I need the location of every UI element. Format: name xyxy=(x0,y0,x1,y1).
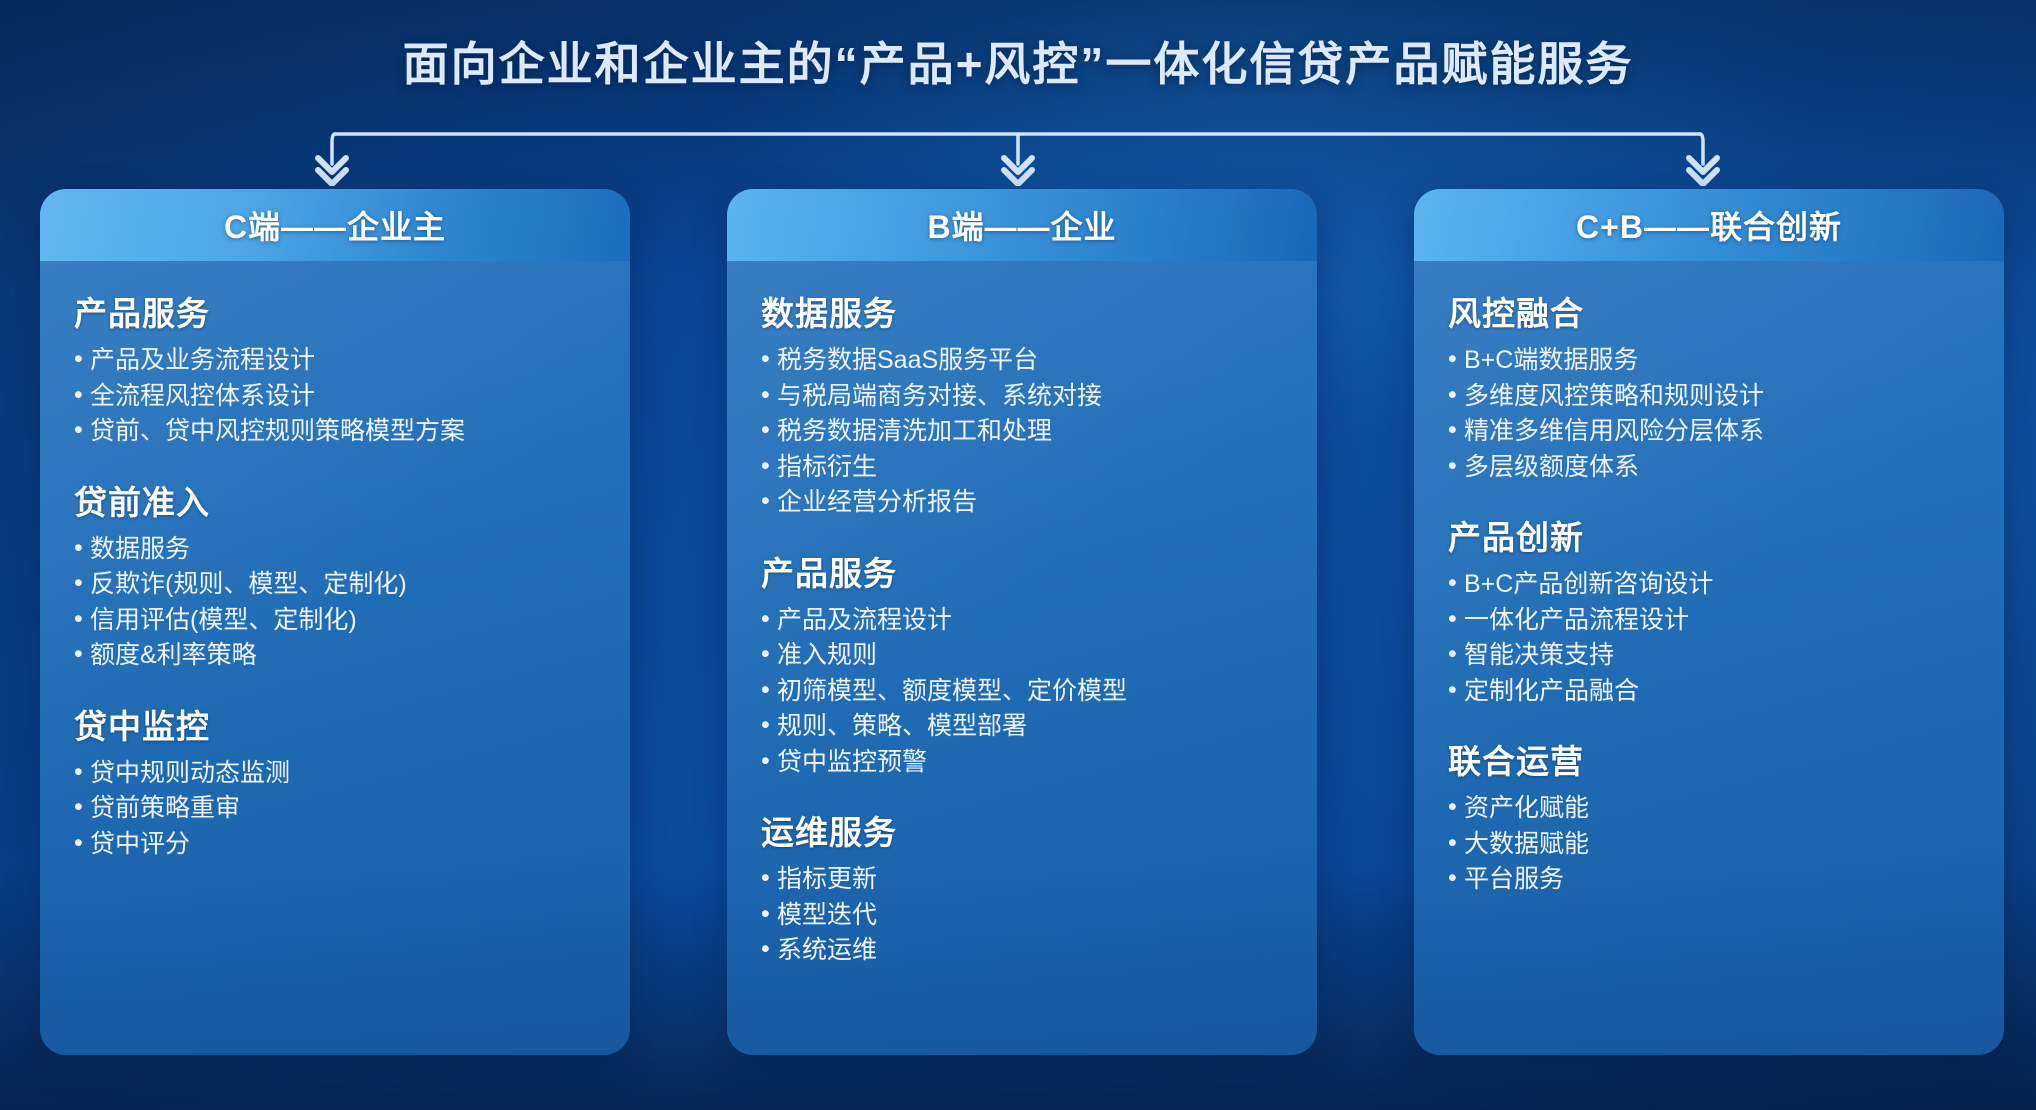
list-item: 数据服务 xyxy=(74,532,596,568)
card-c-end[interactable]: C端——企业主 产品服务 产品及业务流程设计 全流程风控体系设计 贷前、贷中风控… xyxy=(40,189,630,1055)
section-product-innovation: 产品创新 B+C产品创新咨询设计 一体化产品流程设计 智能决策支持 定制化产品融… xyxy=(1448,511,1970,709)
list-item: 产品及业务流程设计 xyxy=(74,343,596,379)
bullet-list: 指标更新 模型迭代 系统运维 xyxy=(761,862,1283,969)
double-chevron-down-icon-2 xyxy=(1004,158,1032,184)
section-product-service: 产品服务 产品及业务流程设计 全流程风控体系设计 贷前、贷中风控规则策略模型方案 xyxy=(74,287,596,450)
section-title: 产品创新 xyxy=(1448,511,1970,559)
section-joint-operation: 联合运营 资产化赋能 大数据赋能 平台服务 xyxy=(1448,735,1970,898)
card-body-c-plus-b: 风控融合 B+C端数据服务 多维度风控策略和规则设计 精准多维信用风险分层体系 … xyxy=(1414,261,2004,1055)
card-header-c-plus-b: C+B——联合创新 xyxy=(1414,189,2004,261)
card-c-plus-b[interactable]: C+B——联合创新 风控融合 B+C端数据服务 多维度风控策略和规则设计 精准多… xyxy=(1414,189,2004,1055)
list-item: 指标衍生 xyxy=(761,450,1283,486)
section-title: 贷中监控 xyxy=(74,700,596,748)
bullet-list: 贷中规则动态监测 贷前策略重审 贷中评分 xyxy=(74,756,596,863)
card-b-end[interactable]: B端——企业 数据服务 税务数据SaaS服务平台 与税局端商务对接、系统对接 税… xyxy=(727,189,1317,1055)
section-title: 产品服务 xyxy=(761,547,1283,595)
list-item: 贷前、贷中风控规则策略模型方案 xyxy=(74,414,596,450)
list-item: 规则、策略、模型部署 xyxy=(761,709,1283,745)
list-item: 贷前策略重审 xyxy=(74,791,596,827)
card-header-b-end: B端——企业 xyxy=(727,189,1317,261)
section-pre-loan-entry: 贷前准入 数据服务 反欺诈(规则、模型、定制化) 信用评估(模型、定制化) 额度… xyxy=(74,476,596,674)
list-item: B+C端数据服务 xyxy=(1448,343,1970,379)
connector-bracket xyxy=(0,96,2036,186)
list-item: 模型迭代 xyxy=(761,898,1283,934)
bullet-list: 资产化赋能 大数据赋能 平台服务 xyxy=(1448,791,1970,898)
list-item: 全流程风控体系设计 xyxy=(74,379,596,415)
bullet-list: 税务数据SaaS服务平台 与税局端商务对接、系统对接 税务数据清洗加工和处理 指… xyxy=(761,343,1283,521)
bullet-list: 产品及流程设计 准入规则 初筛模型、额度模型、定价模型 规则、策略、模型部署 贷… xyxy=(761,603,1283,781)
page-title: 面向企业和企业主的“产品+风控”一体化信贷产品赋能服务 xyxy=(0,28,2036,94)
list-item: 平台服务 xyxy=(1448,862,1970,898)
list-item: 贷中评分 xyxy=(74,827,596,863)
section-title: 风控融合 xyxy=(1448,287,1970,335)
list-item: 初筛模型、额度模型、定价模型 xyxy=(761,674,1283,710)
section-title: 运维服务 xyxy=(761,806,1283,854)
section-product-service: 产品服务 产品及流程设计 准入规则 初筛模型、额度模型、定价模型 规则、策略、模… xyxy=(761,547,1283,781)
list-item: 系统运维 xyxy=(761,933,1283,969)
section-operation-maintenance: 运维服务 指标更新 模型迭代 系统运维 xyxy=(761,806,1283,969)
bullet-list: B+C端数据服务 多维度风控策略和规则设计 精准多维信用风险分层体系 多层级额度… xyxy=(1448,343,1970,485)
list-item: 定制化产品融合 xyxy=(1448,674,1970,710)
list-item: 反欺诈(规则、模型、定制化) xyxy=(74,567,596,603)
list-item: 多层级额度体系 xyxy=(1448,450,1970,486)
double-chevron-down-icon-3 xyxy=(1689,158,1717,184)
list-item: 大数据赋能 xyxy=(1448,827,1970,863)
list-item: 多维度风控策略和规则设计 xyxy=(1448,379,1970,415)
section-title: 产品服务 xyxy=(74,287,596,335)
card-body-b-end: 数据服务 税务数据SaaS服务平台 与税局端商务对接、系统对接 税务数据清洗加工… xyxy=(727,261,1317,1055)
list-item: 指标更新 xyxy=(761,862,1283,898)
list-item: 与税局端商务对接、系统对接 xyxy=(761,379,1283,415)
card-body-c-end: 产品服务 产品及业务流程设计 全流程风控体系设计 贷前、贷中风控规则策略模型方案… xyxy=(40,261,630,1055)
list-item: 企业经营分析报告 xyxy=(761,485,1283,521)
section-risk-control-fusion: 风控融合 B+C端数据服务 多维度风控策略和规则设计 精准多维信用风险分层体系 … xyxy=(1448,287,1970,485)
list-item: 一体化产品流程设计 xyxy=(1448,603,1970,639)
list-item: 贷中规则动态监测 xyxy=(74,756,596,792)
list-item: 税务数据SaaS服务平台 xyxy=(761,343,1283,379)
list-item: 贷中监控预警 xyxy=(761,745,1283,781)
list-item: 资产化赋能 xyxy=(1448,791,1970,827)
list-item: 智能决策支持 xyxy=(1448,638,1970,674)
list-item: B+C产品创新咨询设计 xyxy=(1448,567,1970,603)
double-chevron-down-icon-1 xyxy=(318,158,346,184)
list-item: 税务数据清洗加工和处理 xyxy=(761,414,1283,450)
section-data-service: 数据服务 税务数据SaaS服务平台 与税局端商务对接、系统对接 税务数据清洗加工… xyxy=(761,287,1283,521)
list-item: 信用评估(模型、定制化) xyxy=(74,603,596,639)
cards-row: C端——企业主 产品服务 产品及业务流程设计 全流程风控体系设计 贷前、贷中风控… xyxy=(0,189,2036,1074)
bullet-list: 产品及业务流程设计 全流程风控体系设计 贷前、贷中风控规则策略模型方案 xyxy=(74,343,596,450)
card-header-c-end: C端——企业主 xyxy=(40,189,630,261)
section-title: 数据服务 xyxy=(761,287,1283,335)
section-title: 联合运营 xyxy=(1448,735,1970,783)
bullet-list: B+C产品创新咨询设计 一体化产品流程设计 智能决策支持 定制化产品融合 xyxy=(1448,567,1970,709)
list-item: 精准多维信用风险分层体系 xyxy=(1448,414,1970,450)
bullet-list: 数据服务 反欺诈(规则、模型、定制化) 信用评估(模型、定制化) 额度&利率策略 xyxy=(74,532,596,674)
list-item: 额度&利率策略 xyxy=(74,638,596,674)
section-title: 贷前准入 xyxy=(74,476,596,524)
list-item: 产品及流程设计 xyxy=(761,603,1283,639)
section-in-loan-monitoring: 贷中监控 贷中规则动态监测 贷前策略重审 贷中评分 xyxy=(74,700,596,863)
list-item: 准入规则 xyxy=(761,638,1283,674)
